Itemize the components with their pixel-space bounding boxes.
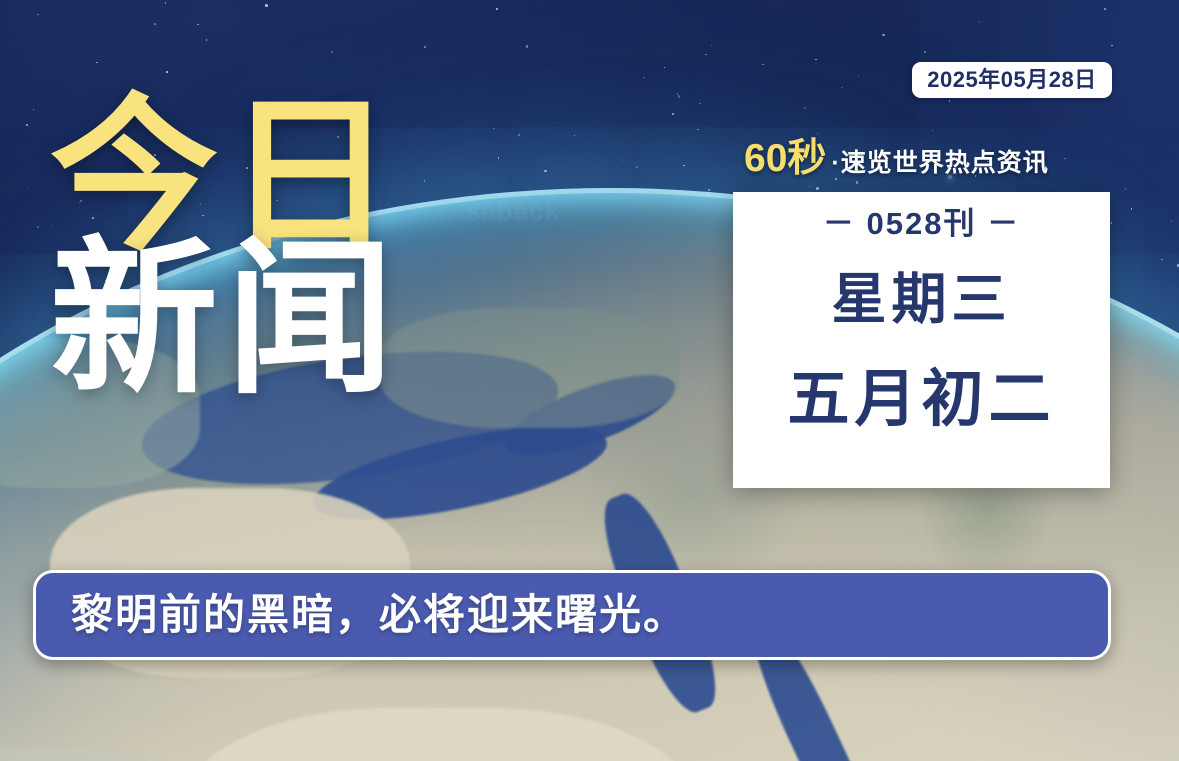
tagline-highlight: 60秒	[744, 139, 826, 178]
date-badge-label: 2025年05月28日	[927, 69, 1096, 91]
poster-title: 今日 新闻	[50, 96, 402, 401]
quote-text: 黎明前的黑暗，必将迎来曙光。	[71, 594, 687, 636]
quote-banner: 黎明前的黑暗，必将迎来曙光。	[33, 570, 1111, 660]
tagline: 60秒 ·速览世界热点资讯	[744, 139, 1049, 178]
news-poster: saback 今日 新闻 2025年05月28日 60秒 ·速览世界热点资讯 －…	[0, 0, 1179, 761]
tagline-rest: ·速览世界热点资讯	[831, 151, 1048, 176]
lunar-date-label: 五月初二	[787, 369, 1055, 431]
title-line-news: 新闻	[50, 239, 402, 400]
issue-number: － 0528刊 －	[823, 204, 1020, 244]
weekday-label: 星期三	[831, 272, 1011, 327]
watermark-text: saback	[466, 196, 560, 227]
issue-card: － 0528刊 － 星期三 五月初二	[733, 192, 1110, 488]
date-badge: 2025年05月28日	[912, 62, 1112, 98]
